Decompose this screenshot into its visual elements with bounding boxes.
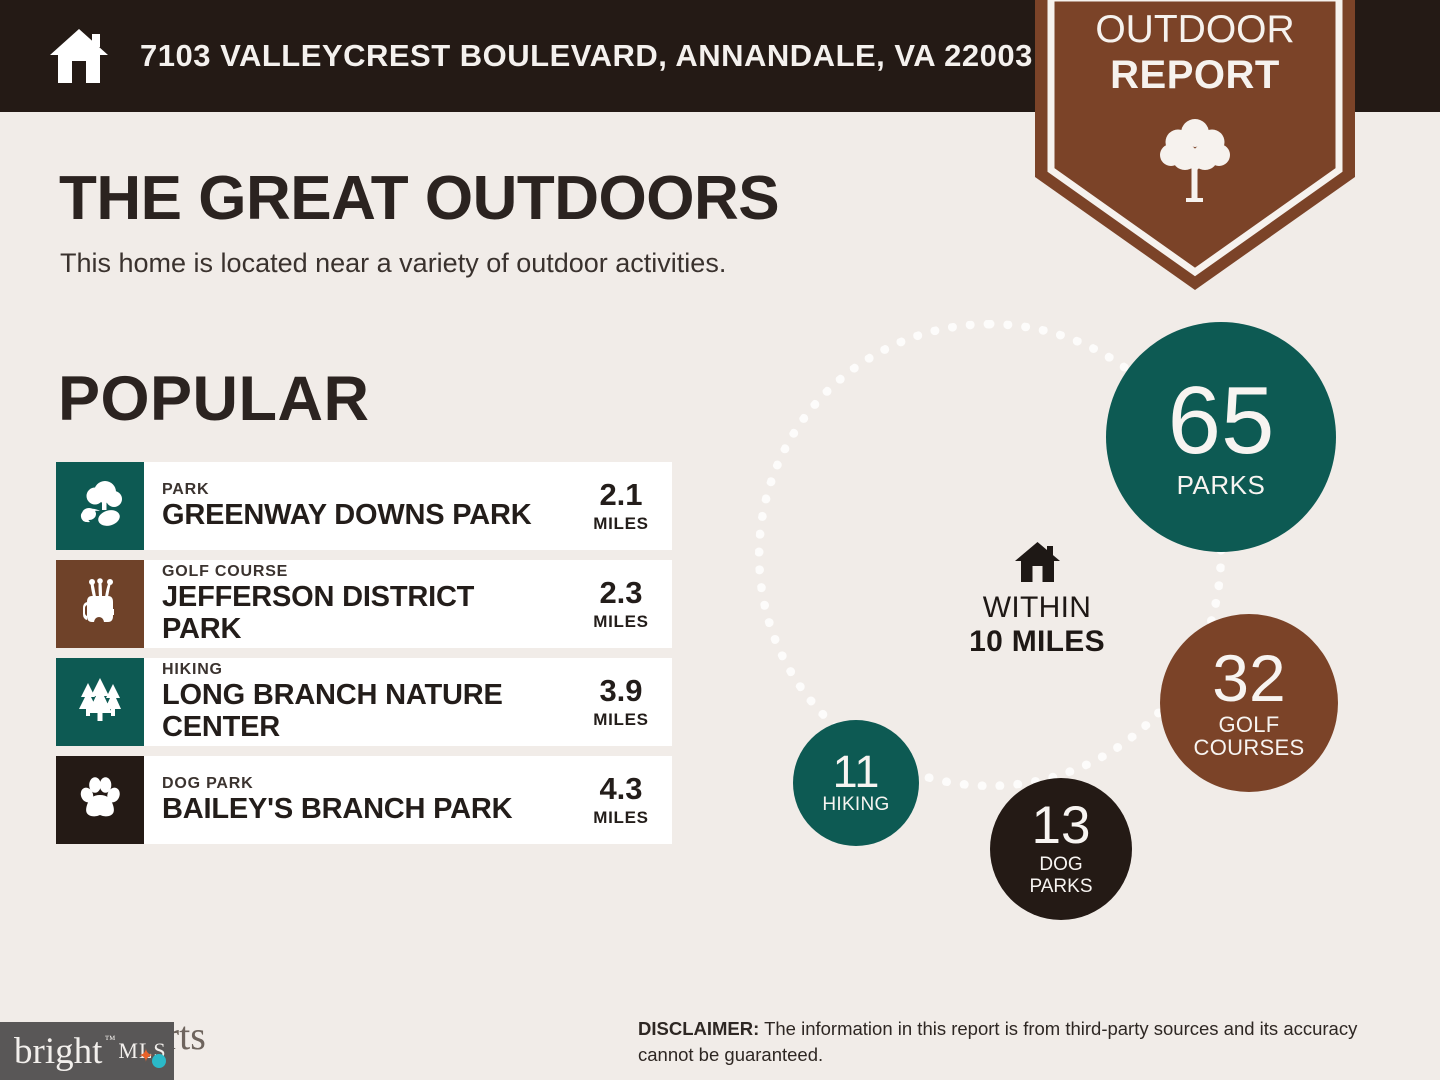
distance-unit: MILES <box>576 808 666 828</box>
disclaimer: DISCLAIMER: The information in this repo… <box>638 1016 1398 1069</box>
pine-trees-icon <box>75 675 125 730</box>
park-trees-icon <box>75 479 125 534</box>
distance-value: 4.3 <box>576 773 666 804</box>
property-address: 7103 VALLEYCREST BOULEVARD, ANNANDALE, V… <box>140 38 1033 74</box>
list-item[interactable]: HIKING LONG BRANCH NATURE CENTER 3.9 MIL… <box>56 658 672 746</box>
category-tile <box>56 462 144 550</box>
outdoor-report-page: 7103 VALLEYCREST BOULEVARD, ANNANDALE, V… <box>0 0 1440 1080</box>
center-line-1: WITHIN <box>932 593 1142 624</box>
stat-label: DOG PARKS <box>1029 854 1092 897</box>
orange-star-icon: ✦ <box>138 1048 155 1065</box>
stat-count: 65 <box>1168 375 1275 466</box>
list-item-body: DOG PARK BAILEY'S BRANCH PARK 4.3 MILES <box>144 756 672 844</box>
paw-print-icon <box>75 773 125 828</box>
stat-label-line-1: DOG <box>1039 854 1082 875</box>
stat-label-line-2: COURSES <box>1194 735 1305 760</box>
trademark-icon: ™ <box>105 1035 116 1046</box>
list-item[interactable]: DOG PARK BAILEY'S BRANCH PARK 4.3 MILES <box>56 756 672 844</box>
distance-value: 2.1 <box>576 479 666 510</box>
stat-label-line-2: PARKS <box>1029 876 1092 897</box>
home-icon <box>48 25 110 87</box>
list-item-distance: 2.3 MILES <box>576 577 672 632</box>
popular-list: PARK GREENWAY DOWNS PARK 2.1 MILES <box>56 462 672 854</box>
list-item-distance: 3.9 MILES <box>576 675 672 730</box>
stat-label: GOLF COURSES <box>1194 713 1305 759</box>
distance-unit: MILES <box>576 612 666 632</box>
category-tile <box>56 756 144 844</box>
list-item-category: PARK <box>162 481 576 499</box>
list-item-body: PARK GREENWAY DOWNS PARK 2.1 MILES <box>144 462 672 550</box>
home-icon <box>1014 540 1061 584</box>
distance-unit: MILES <box>576 514 666 534</box>
list-item-name: BAILEY'S BRANCH PARK <box>162 794 576 825</box>
list-item[interactable]: GOLF COURSE JEFFERSON DISTRICT PARK 2.3 … <box>56 560 672 648</box>
distance-value: 2.3 <box>576 577 666 608</box>
category-tile <box>56 658 144 746</box>
outdoor-report-badge: OUTDOOR REPORT <box>1035 0 1355 290</box>
stat-bubble-hiking: 11 HIKING <box>793 720 919 846</box>
stat-count: 13 <box>1032 801 1091 851</box>
badge-line-2: REPORT <box>1035 55 1355 95</box>
bright-mls-logo: bright ™ MLS ✦ <box>0 1022 174 1080</box>
stat-label-line-1: GOLF <box>1218 712 1279 737</box>
badge-text: OUTDOOR REPORT <box>1035 10 1355 95</box>
list-item-name: JEFFERSON DISTRICT PARK <box>162 582 502 645</box>
list-item-name: LONG BRANCH NATURE CENTER <box>162 680 576 743</box>
list-item-name: GREENWAY DOWNS PARK <box>162 500 576 531</box>
category-tile <box>56 560 144 648</box>
bright-text: bright <box>14 1031 102 1072</box>
list-item-category: HIKING <box>162 661 576 679</box>
list-item-category: DOG PARK <box>162 775 576 793</box>
stat-count: 11 <box>833 751 880 794</box>
page-title: THE GREAT OUTDOORS <box>59 163 779 234</box>
list-item-body: HIKING LONG BRANCH NATURE CENTER 3.9 MIL… <box>144 658 672 746</box>
list-item-body: GOLF COURSE JEFFERSON DISTRICT PARK 2.3 … <box>144 560 672 648</box>
golf-bag-icon <box>75 577 125 632</box>
stat-bubble-golf-courses: 32 GOLF COURSES <box>1160 614 1338 792</box>
bright-mls-wordmark: bright ™ <box>14 1033 102 1070</box>
within-10-miles-diagram: 65 PARKS 32 GOLF COURSES 13 DOG PARKS 11… <box>700 300 1400 940</box>
badge-line-1: OUTDOOR <box>1035 10 1355 49</box>
disclaimer-label: DISCLAIMER: <box>638 1018 759 1039</box>
list-item-distance: 2.1 MILES <box>576 479 672 534</box>
stat-label: PARKS <box>1177 472 1266 499</box>
list-item-distance: 4.3 MILES <box>576 773 672 828</box>
diagram-center-label: WITHIN 10 MILES <box>932 540 1142 657</box>
list-item-category: GOLF COURSE <box>162 563 576 581</box>
stat-bubble-dog-parks: 13 DOG PARKS <box>990 778 1132 920</box>
distance-value: 3.9 <box>576 675 666 706</box>
section-heading-popular: POPULAR <box>58 363 370 435</box>
center-line-2: 10 MILES <box>932 626 1142 657</box>
stat-count: 32 <box>1212 647 1285 710</box>
stat-label: HIKING <box>822 795 889 815</box>
tree-icon <box>1158 117 1232 203</box>
list-item[interactable]: PARK GREENWAY DOWNS PARK 2.1 MILES <box>56 462 672 550</box>
distance-unit: MILES <box>576 710 666 730</box>
page-subtitle: This home is located near a variety of o… <box>60 248 726 279</box>
stat-bubble-parks: 65 PARKS <box>1106 322 1336 552</box>
